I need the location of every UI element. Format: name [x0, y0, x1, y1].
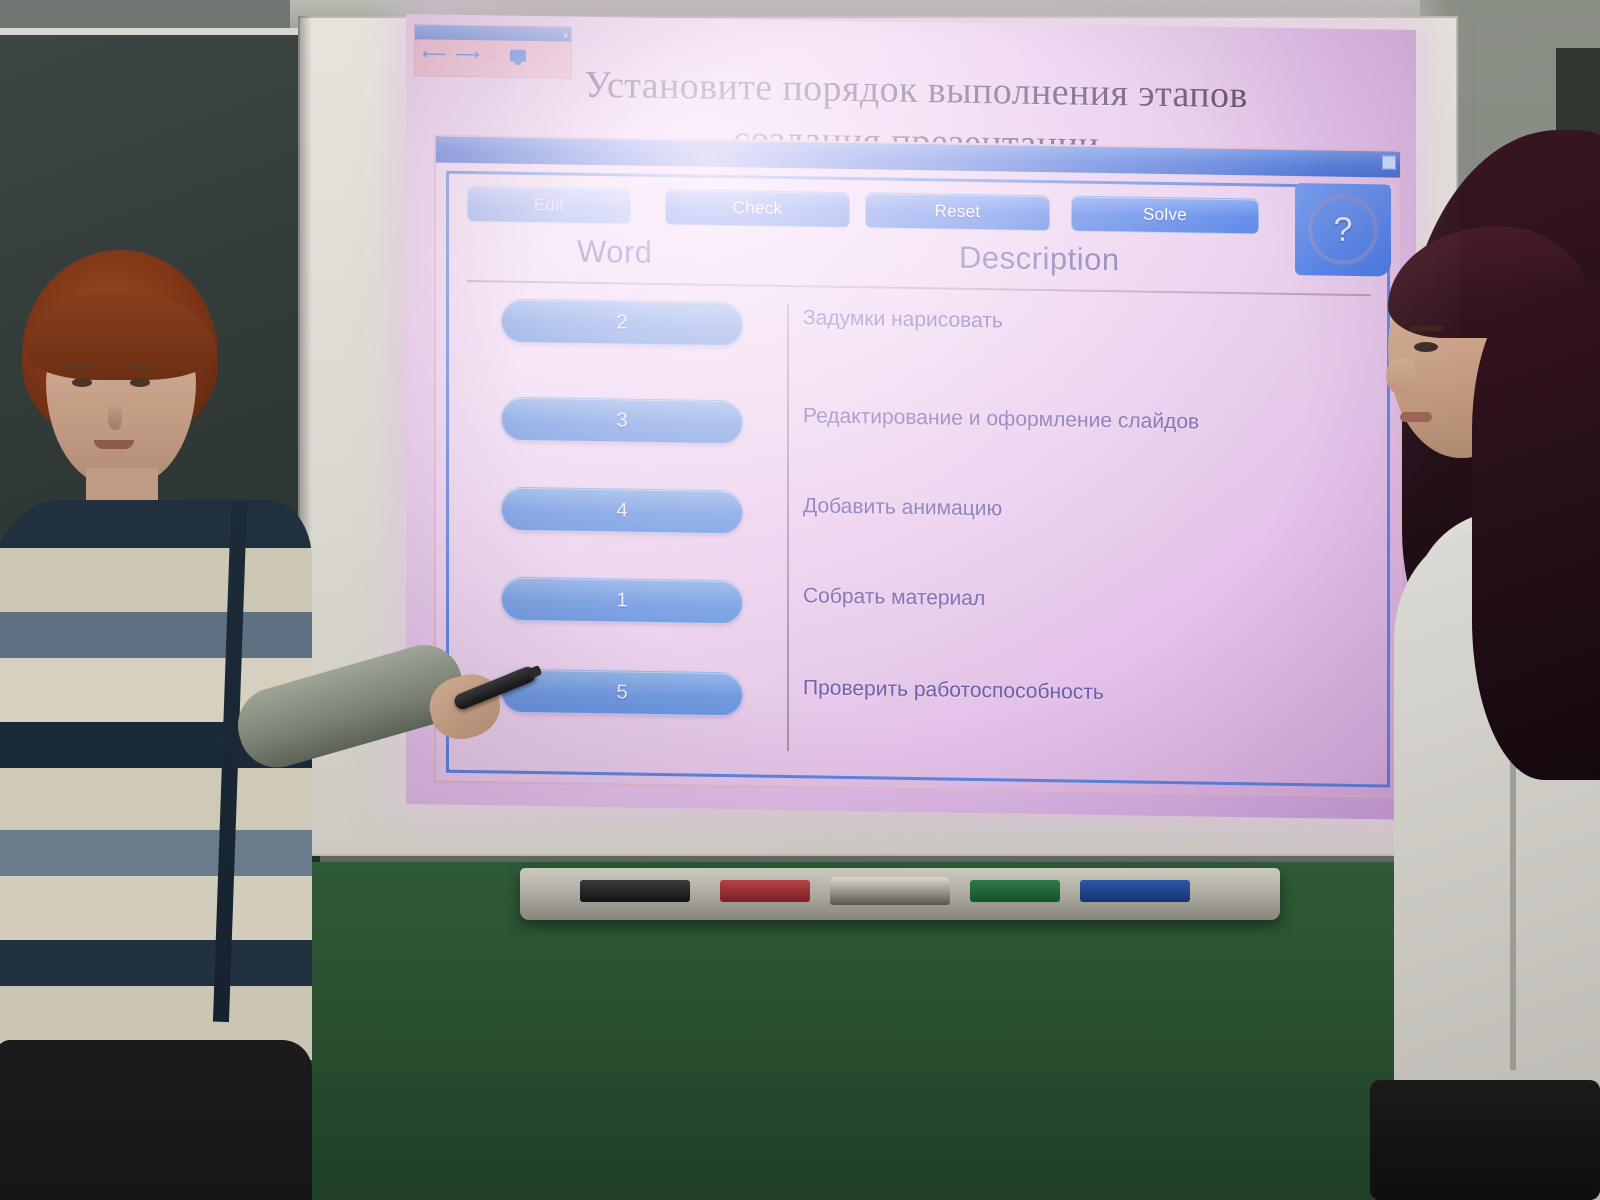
- floating-toolbar-body: ⟵ ⟶ ... ..: [415, 39, 571, 70]
- column-header-description: Description: [959, 240, 1120, 279]
- word-pill[interactable]: 4: [501, 487, 743, 535]
- arrow-left-icon[interactable]: ⟵: [422, 45, 446, 62]
- quiz-application-window[interactable]: Edit Check Reset Solve ? Word Descriptio…: [434, 135, 1402, 798]
- marker-green[interactable]: [970, 880, 1060, 902]
- description-text: Собрать материал: [803, 581, 1363, 619]
- teacher-nose: [108, 402, 122, 430]
- check-button[interactable]: Check: [665, 189, 850, 228]
- student-figure: [1380, 130, 1600, 1200]
- student-hair-front: [1472, 280, 1600, 780]
- reset-button[interactable]: Reset: [865, 192, 1050, 231]
- word-pill[interactable]: 2: [501, 299, 743, 347]
- teacher-figure: [0, 250, 350, 1200]
- floating-toolbar-window[interactable]: x ⟵ ⟶ ... ..: [414, 24, 572, 78]
- student-lips: [1400, 412, 1432, 422]
- arrow-right-icon[interactable]: ⟶: [455, 46, 479, 63]
- teacher-striped-cardigan: [0, 500, 312, 1060]
- monitor-icon[interactable]: [510, 49, 526, 61]
- teacher-eye-right: [130, 378, 150, 387]
- eraser[interactable]: [830, 877, 950, 905]
- column-header-word: Word: [577, 234, 653, 271]
- student-brow: [1410, 326, 1444, 331]
- matching-list: 2 Задумки нарисовать 3 Редактирование и …: [459, 292, 1377, 766]
- more-dots-icon[interactable]: ...: [489, 49, 501, 61]
- edit-button[interactable]: Edit: [467, 186, 631, 225]
- teacher-skirt: [0, 1040, 312, 1200]
- list-item: 4 Добавить анимацию: [459, 486, 1377, 500]
- solve-button[interactable]: Solve: [1071, 196, 1259, 235]
- list-item: 2 Задумки нарисовать: [459, 298, 1377, 312]
- word-pill[interactable]: 3: [501, 397, 743, 445]
- word-pill[interactable]: 1: [501, 577, 743, 625]
- list-item: 3 Редактирование и оформление слайдов: [459, 396, 1377, 410]
- student-nose: [1386, 358, 1414, 394]
- projected-screen[interactable]: Установите порядок выполнения этапов соз…: [406, 14, 1416, 820]
- marker-red[interactable]: [720, 880, 810, 902]
- chair: [1370, 1080, 1600, 1200]
- marker-black[interactable]: [580, 880, 690, 902]
- app-content: Edit Check Reset Solve ? Word Descriptio…: [446, 171, 1390, 788]
- secondary-dots-icon[interactable]: ..: [535, 51, 540, 61]
- description-text: Добавить анимацию: [803, 491, 1363, 529]
- description-text: Проверить работоспособность: [803, 673, 1363, 711]
- list-item: 1 Собрать материал: [459, 576, 1377, 590]
- teacher-mouth: [94, 440, 134, 449]
- marker-blue[interactable]: [1080, 880, 1190, 902]
- classroom-scene: Установите порядок выполнения этапов соз…: [0, 0, 1600, 1200]
- student-eye: [1414, 342, 1438, 352]
- list-item: 5 Проверить работоспособность: [459, 668, 1377, 682]
- description-text: Задумки нарисовать: [803, 303, 1363, 341]
- pen-tray[interactable]: [520, 868, 1280, 920]
- close-icon[interactable]: x: [564, 30, 568, 39]
- teacher-eye-left: [72, 378, 92, 387]
- column-divider: [787, 303, 789, 751]
- description-text: Редактирование и оформление слайдов: [803, 401, 1363, 439]
